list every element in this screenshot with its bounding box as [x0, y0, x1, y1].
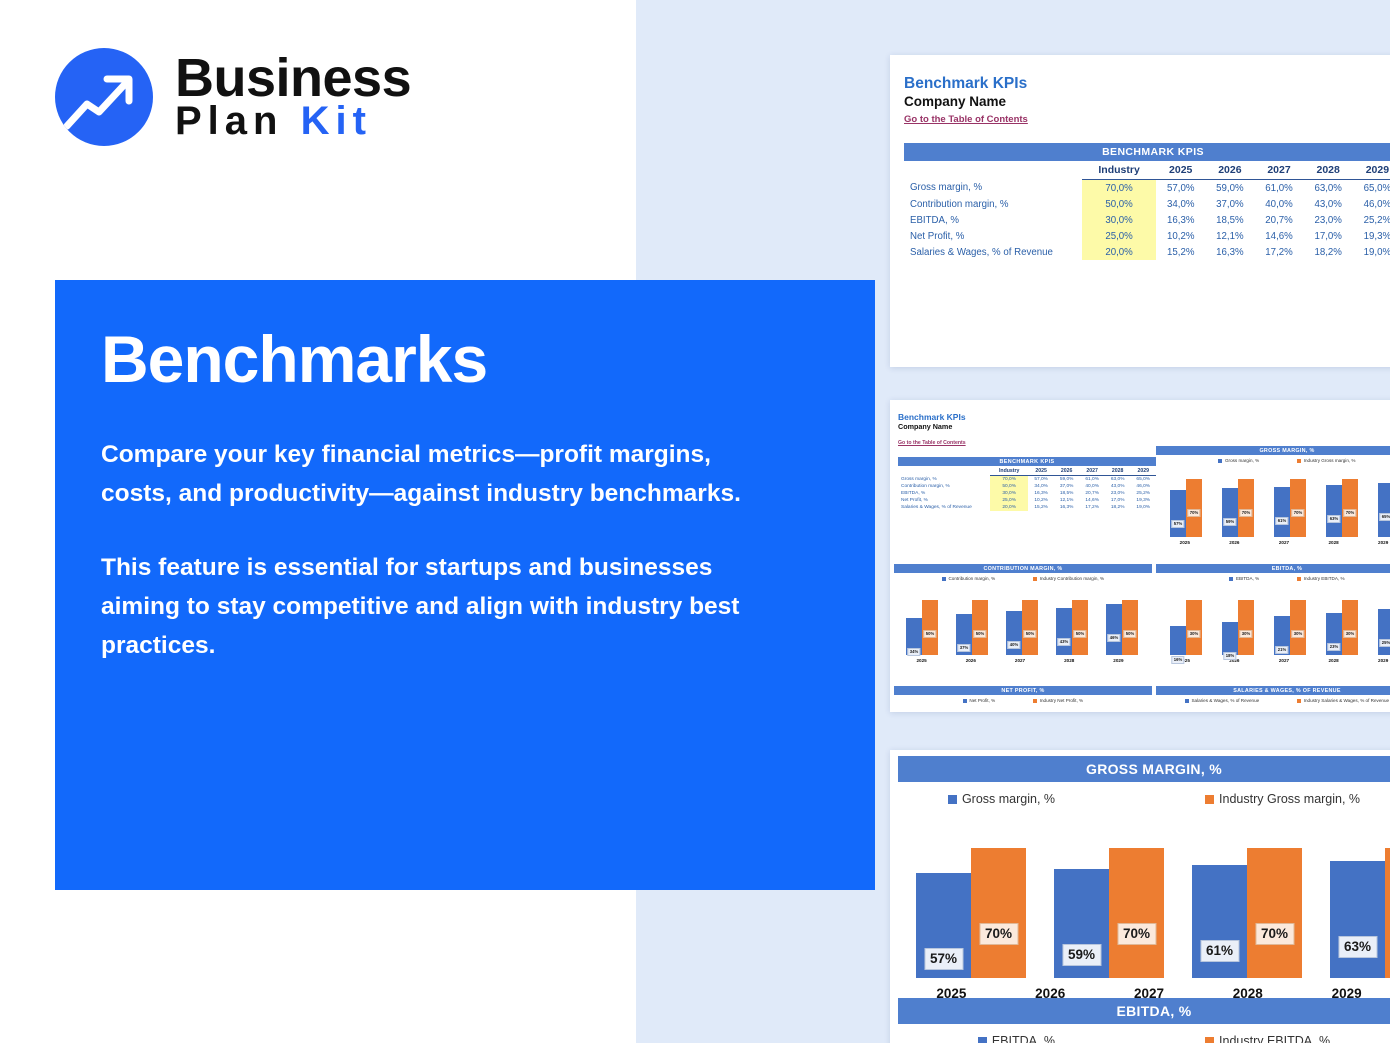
chart-bar-value-label: 61%	[1200, 940, 1239, 962]
kpi-row-label: Net Profit, %	[898, 497, 990, 504]
legend-label: Industry Salaries & Wages, % of Revenue	[1304, 698, 1389, 703]
kpi-year-value: 16,3%	[1054, 504, 1080, 511]
kpi-year-value: 63,0%	[1105, 476, 1131, 484]
kpi-year-value: 40,0%	[1254, 196, 1303, 212]
chart-x-tick-label: 2029	[1368, 658, 1390, 663]
table-row: EBITDA, %30,0%16,3%18,5%20,7%23,0%25,2%	[898, 490, 1156, 497]
legend-label: Industry EBITDA, %	[1219, 1034, 1330, 1043]
kpi-column-header: 2025	[1028, 466, 1054, 476]
legend-item[interactable]: Industry EBITDA, %	[1205, 1034, 1330, 1043]
chart-x-tick-label: 2029	[1103, 658, 1134, 663]
legend-item[interactable]: EBITDA, %	[1229, 576, 1259, 581]
kpi-year-value: 20,7%	[1079, 490, 1105, 497]
kpi-industry-value: 50,0%	[990, 483, 1028, 490]
legend-swatch-series-blue	[1218, 459, 1222, 463]
chart-x-tick-label: 2026	[955, 658, 986, 663]
kpi-banner-label: BENCHMARK KPIS	[898, 457, 1156, 466]
chart-bar-group: 37%50%	[956, 600, 988, 655]
legend-item[interactable]: Net Profit, %	[963, 698, 995, 703]
kpi-industry-value: 50,0%	[1082, 196, 1156, 212]
kpi-year-value: 63,0%	[1304, 180, 1353, 197]
kpi-column-header: 2026	[1205, 161, 1254, 180]
sheet-company-name: Company Name	[904, 94, 1390, 109]
table-row: Contribution margin, %50,0%34,0%37,0%40,…	[904, 196, 1390, 212]
chart-bar[interactable]: 61%	[1192, 865, 1247, 978]
kpi-year-value: 59,0%	[1054, 476, 1080, 484]
sheet-title: Benchmark KPIs	[898, 412, 1390, 422]
hero-paragraph-1: Compare your key financial metrics—profi…	[101, 436, 741, 513]
chart-x-tick-label: 2027	[1004, 658, 1035, 663]
kpi-year-value: 57,0%	[1028, 476, 1054, 484]
chart-legend: Gross margin, %Industry Gross margin, %	[898, 792, 1390, 806]
legend-swatch-series-blue	[942, 577, 946, 581]
chart-x-tick-label: 2027	[1269, 540, 1299, 545]
chart-bar[interactable]: 63%	[1326, 485, 1342, 537]
chart-plot-area: 16%30%18%30%21%30%23%30%25%30%	[1156, 589, 1390, 655]
chart-bar-group: 57%70%	[1170, 479, 1202, 537]
legend-label: Net Profit, %	[969, 698, 995, 703]
legend-label: Gross margin, %	[962, 792, 1055, 806]
chart-title: NET PROFIT, %	[894, 686, 1152, 695]
chart-bar-group: 23%30%	[1326, 600, 1358, 655]
chart-bar-value-label: 18%	[1223, 652, 1236, 660]
chart-bar[interactable]: 25%	[1378, 609, 1390, 655]
chart-title: EBITDA, %	[1156, 564, 1390, 573]
kpi-year-value: 14,6%	[1254, 228, 1303, 244]
kpi-year-value: 37,0%	[1054, 483, 1080, 490]
chart-gross-margin-large[interactable]: GROSS MARGIN, %Gross margin, %Industry G…	[898, 756, 1390, 1006]
chart-bar-value-label: 25%	[1379, 639, 1390, 647]
kpi-column-header: 2029	[1130, 466, 1156, 476]
kpi-table-body-mid: BENCHMARK KPISIndustry202520262027202820…	[898, 457, 1156, 511]
kpi-column-header: Industry	[1082, 161, 1156, 180]
chart-ebitda-large[interactable]: EBITDA, %EBITDA, %Industry EBITDA, %	[898, 998, 1390, 1043]
chart-bar[interactable]: 59%	[1054, 869, 1109, 978]
chart-bar-value-label: 30%	[1343, 630, 1356, 638]
chart-bar[interactable]: 50%	[1022, 600, 1038, 655]
kpi-banner-row: BENCHMARK KPIS	[904, 143, 1390, 161]
chart-title: CONTRIBUTION MARGIN, %	[894, 564, 1152, 573]
chart-legend: Contribution margin, %Industry Contribut…	[894, 576, 1152, 581]
legend-item[interactable]: Industry Net Profit, %	[1033, 698, 1083, 703]
chart-gross-margin-mini[interactable]: GROSS MARGIN, %Gross margin, %Industry G…	[1156, 446, 1390, 574]
chart-legend: Salaries & Wages, % of RevenueIndustry S…	[1156, 698, 1390, 703]
kpi-year-value: 12,1%	[1205, 228, 1254, 244]
kpi-year-value: 59,0%	[1205, 180, 1254, 197]
legend-label: Contribution margin, %	[948, 576, 995, 581]
chart-bar[interactable]: 70%	[1290, 479, 1306, 537]
kpi-column-header: 2027	[1254, 161, 1303, 180]
chart-x-axis: 20252026202720282029	[894, 658, 1152, 663]
legend-item[interactable]: Industry Salaries & Wages, % of Revenue	[1297, 698, 1389, 703]
legend-swatch-series-orange	[1205, 1037, 1214, 1043]
chart-legend: EBITDA, %Industry EBITDA, %	[1156, 576, 1390, 581]
kpi-table-body-top: BENCHMARK KPISIndustry202520262027202820…	[904, 143, 1390, 260]
sheet-title: Benchmark KPIs	[904, 75, 1390, 93]
chart-bar-value-label: 40%	[1007, 641, 1020, 649]
legend-swatch-series-blue	[978, 1037, 987, 1043]
chart-bar[interactable]: 70%	[1342, 479, 1358, 537]
legend-swatch-series-orange	[1205, 795, 1214, 804]
kpi-row-label: Contribution margin, %	[904, 196, 1082, 212]
chart-bar[interactable]: 50%	[922, 600, 938, 655]
chart-bar-group: 59%70%	[1054, 848, 1164, 978]
chart-bar-value-label: 70%	[1239, 509, 1252, 517]
chart-bar[interactable]: 30%	[1342, 600, 1358, 655]
legend-item[interactable]: Industry Gross margin, %	[1297, 458, 1355, 463]
kpi-banner-label: BENCHMARK KPIS	[904, 143, 1390, 161]
kpi-year-value: 10,2%	[1156, 228, 1205, 244]
kpi-year-value: 37,0%	[1205, 196, 1254, 212]
legend-item[interactable]: EBITDA, %	[978, 1034, 1055, 1043]
kpi-year-value: 19,3%	[1130, 497, 1156, 504]
chart-bar-group: 46%50%	[1106, 600, 1138, 655]
chart-ebitda-mini[interactable]: EBITDA, %EBITDA, %Industry EBITDA, %16%3…	[1156, 564, 1390, 692]
chart-title: SALARIES & WAGES, % OF REVENUE	[1156, 686, 1390, 695]
chart-x-tick-label: 2028	[1054, 658, 1085, 663]
chart-x-tick-label: 2029	[1368, 540, 1390, 545]
chart-plot-area: 34%50%37%50%40%50%43%50%46%50%	[894, 589, 1152, 655]
kpi-year-value: 43,0%	[1105, 483, 1131, 490]
table-row: Net Profit, %25,0%10,2%12,1%14,6%17,0%19…	[904, 228, 1390, 244]
brand-logo[interactable]: Business Plan Kit	[55, 48, 411, 146]
chart-bar[interactable]: 70%	[1238, 479, 1254, 537]
kpi-year-value: 61,0%	[1079, 476, 1105, 484]
legend-swatch-series-orange	[1297, 699, 1301, 703]
chart-x-axis: 20252026202720282029	[1156, 658, 1390, 663]
kpi-header-blank	[904, 161, 1082, 180]
table-row: Net Profit, %25,0%10,2%12,1%14,6%17,0%19…	[898, 497, 1156, 504]
legend-label: Industry EBITDA, %	[1304, 576, 1345, 581]
legend-swatch-series-blue	[948, 795, 957, 804]
chart-bar[interactable]: 43%	[1056, 608, 1072, 655]
chart-bar[interactable]: 40%	[1006, 611, 1022, 655]
chart-bar-group: 25%30%	[1378, 600, 1390, 655]
chart-x-tick-label: 2028	[1319, 658, 1349, 663]
chart-bar-value-label: 30%	[1239, 630, 1252, 638]
kpi-banner-row: BENCHMARK KPIS	[898, 457, 1156, 466]
legend-swatch-series-orange	[1033, 577, 1037, 581]
chart-bar-value-label: 70%	[1291, 509, 1304, 517]
kpi-year-value: 17,0%	[1304, 228, 1353, 244]
chart-bar[interactable]: 70%	[1385, 848, 1390, 978]
kpi-row-label: Gross margin, %	[904, 180, 1082, 197]
kpi-year-value: 18,2%	[1105, 504, 1131, 511]
kpi-column-header: 2029	[1353, 161, 1390, 180]
legend-swatch-series-blue	[963, 699, 967, 703]
legend-item[interactable]: Industry Gross margin, %	[1205, 792, 1360, 806]
chart-bar-group: 34%50%	[906, 600, 938, 655]
kpi-industry-value: 20,0%	[990, 504, 1028, 511]
table-of-contents-link[interactable]: Go to the Table of Contents	[898, 440, 966, 446]
table-row: EBITDA, %30,0%16,3%18,5%20,7%23,0%25,2%	[904, 212, 1390, 228]
kpi-year-value: 23,0%	[1304, 212, 1353, 228]
chart-bar-value-label: 16%	[1171, 656, 1184, 664]
hero-panel: Benchmarks Compare your key financial me…	[55, 280, 875, 890]
chart-bar-value-label: 50%	[923, 630, 936, 638]
chart-bar[interactable]: 23%	[1326, 613, 1342, 655]
kpi-industry-value: 30,0%	[990, 490, 1028, 497]
chart-x-tick-label: 2027	[1269, 658, 1299, 663]
kpi-row-label: EBITDA, %	[898, 490, 990, 497]
chart-bar-group: 59%70%	[1222, 479, 1254, 537]
chart-bar[interactable]: 50%	[1072, 600, 1088, 655]
legend-swatch-series-blue	[1229, 577, 1233, 581]
chart-bar-value-label: 50%	[973, 630, 986, 638]
benchmark-kpi-table: BENCHMARK KPISIndustry202520262027202820…	[904, 143, 1390, 260]
legend-label: EBITDA, %	[992, 1034, 1055, 1043]
chart-bar-value-label: 43%	[1057, 638, 1070, 646]
chart-bar[interactable]: 59%	[1222, 488, 1238, 537]
chart-bar[interactable]: 63%	[1330, 861, 1385, 978]
kpi-row-label: Contribution margin, %	[898, 483, 990, 490]
kpi-row-label: Net Profit, %	[904, 228, 1082, 244]
chart-bar-value-label: 46%	[1107, 634, 1120, 642]
kpi-column-header: Industry	[990, 466, 1028, 476]
chart-plot-area: 57%70%59%70%61%70%63%70%65%70%	[898, 830, 1390, 978]
chart-bar-value-label: 59%	[1223, 518, 1236, 526]
legend-label: Industry Gross margin, %	[1304, 458, 1356, 463]
kpi-year-value: 17,0%	[1105, 497, 1131, 504]
kpi-year-value: 10,2%	[1028, 497, 1054, 504]
kpi-year-value: 61,0%	[1254, 180, 1303, 197]
chart-title: EBITDA, %	[898, 998, 1390, 1024]
chart-bar-value-label: 70%	[1255, 923, 1294, 945]
kpi-year-value: 19,3%	[1353, 228, 1390, 244]
chart-bar-value-label: 70%	[1117, 923, 1156, 945]
chart-title: GROSS MARGIN, %	[898, 756, 1390, 782]
chart-x-axis: 20252026202720282029	[1156, 540, 1390, 545]
chart-bar-value-label: 50%	[1123, 630, 1136, 638]
page-title: Benchmarks	[101, 326, 823, 392]
chart-bar-value-label: 37%	[957, 644, 970, 652]
kpi-year-value: 19,0%	[1130, 504, 1156, 511]
chart-bar[interactable]: 70%	[971, 848, 1026, 978]
chart-legend: Net Profit, %Industry Net Profit, %	[894, 698, 1152, 703]
chart-bar-value-label: 21%	[1275, 646, 1288, 654]
kpi-column-header: 2028	[1304, 161, 1353, 180]
kpi-year-value: 17,2%	[1254, 244, 1303, 260]
chart-bar-value-label: 57%	[924, 948, 963, 970]
kpi-row-label: Gross margin, %	[898, 476, 990, 484]
legend-swatch-series-blue	[1185, 699, 1189, 703]
table-row: Gross margin, %70,0%57,0%59,0%61,0%63,0%…	[904, 180, 1390, 197]
kpi-header-row: Industry20252026202720282029	[904, 161, 1390, 180]
chart-salaries-wages-mini[interactable]: SALARIES & WAGES, % OF REVENUESalaries &…	[1156, 686, 1390, 712]
chart-bar-value-label: 57%	[1171, 520, 1184, 528]
legend-item[interactable]: Industry EBITDA, %	[1297, 576, 1344, 581]
chart-bar[interactable]: 61%	[1274, 487, 1290, 537]
kpi-year-value: 46,0%	[1130, 483, 1156, 490]
legend-item[interactable]: Industry Contribution margin, %	[1033, 576, 1104, 581]
chart-plot-area: 57%70%59%70%61%70%63%70%65%70%	[1156, 471, 1390, 537]
chart-bar-value-label: 70%	[1187, 509, 1200, 517]
table-row: Contribution margin, %50,0%34,0%37,0%40,…	[898, 483, 1156, 490]
kpi-year-value: 16,3%	[1205, 244, 1254, 260]
kpi-row-label: EBITDA, %	[904, 212, 1082, 228]
spreadsheet-preview-top[interactable]: Benchmark KPIs Company Name Go to the Ta…	[890, 55, 1390, 367]
kpi-year-value: 16,3%	[1028, 490, 1054, 497]
table-of-contents-link[interactable]: Go to the Table of Contents	[904, 114, 1028, 125]
chart-bar[interactable]: 50%	[972, 600, 988, 655]
chart-bar[interactable]: 57%	[916, 873, 971, 978]
brand-name-line1: Business	[175, 54, 411, 104]
kpi-year-value: 18,5%	[1205, 212, 1254, 228]
chart-bar[interactable]: 37%	[956, 614, 972, 655]
chart-bar[interactable]: 16%	[1170, 626, 1186, 655]
chart-bar[interactable]: 70%	[1109, 848, 1164, 978]
chart-bar[interactable]: 46%	[1106, 604, 1122, 655]
legend-item[interactable]: Contribution margin, %	[942, 576, 995, 581]
kpi-industry-value: 20,0%	[1082, 244, 1156, 260]
chart-bar-group: 57%70%	[916, 848, 1026, 978]
kpi-year-value: 18,2%	[1304, 244, 1353, 260]
kpi-industry-value: 25,0%	[1082, 228, 1156, 244]
kpi-industry-value: 70,0%	[990, 476, 1028, 484]
hero-paragraph-2: This feature is essential for startups a…	[101, 549, 741, 665]
chart-bar[interactable]: 50%	[1122, 600, 1138, 655]
kpi-year-value: 20,7%	[1254, 212, 1303, 228]
kpi-year-value: 46,0%	[1353, 196, 1390, 212]
chart-bar[interactable]: 70%	[1247, 848, 1302, 978]
kpi-year-value: 15,2%	[1156, 244, 1205, 260]
chart-bar-value-label: 50%	[1073, 630, 1086, 638]
brand-name-plan: Plan	[175, 99, 283, 143]
chart-legend: EBITDA, %Industry EBITDA, %	[898, 1034, 1390, 1043]
kpi-header-row: Industry20252026202720282029	[898, 466, 1156, 476]
trend-arrow-up-icon	[55, 48, 153, 146]
kpi-row-label: Salaries & Wages, % of Revenue	[898, 504, 990, 511]
table-row: Gross margin, %70,0%57,0%59,0%61,0%63,0%…	[898, 476, 1156, 484]
kpi-year-value: 65,0%	[1130, 476, 1156, 484]
chart-bar[interactable]: 30%	[1186, 600, 1202, 655]
chart-bar[interactable]: 18%	[1222, 622, 1238, 655]
kpi-column-header: 2025	[1156, 161, 1205, 180]
legend-item[interactable]: Gross margin, %	[1218, 458, 1259, 463]
kpi-year-value: 17,2%	[1079, 504, 1105, 511]
sheet-company-name: Company Name	[898, 422, 1390, 431]
chart-bar[interactable]: 70%	[1186, 479, 1202, 537]
chart-legend: Gross margin, %Industry Gross margin, %	[1156, 458, 1390, 463]
chart-bar-value-label: 34%	[907, 648, 920, 656]
legend-label: Salaries & Wages, % of Revenue	[1191, 698, 1259, 703]
kpi-year-value: 40,0%	[1079, 483, 1105, 490]
chart-bar[interactable]: 30%	[1238, 600, 1254, 655]
chart-bar-group: 63%70%	[1326, 479, 1358, 537]
chart-bar-group: 63%70%	[1330, 848, 1390, 978]
chart-x-tick-label: 2028	[1319, 540, 1349, 545]
benchmark-kpi-table: BENCHMARK KPISIndustry202520262027202820…	[898, 457, 1156, 511]
table-row: Salaries & Wages, % of Revenue20,0%15,2%…	[898, 504, 1156, 511]
chart-bar-value-label: 50%	[1023, 630, 1036, 638]
kpi-year-value: 65,0%	[1353, 180, 1390, 197]
kpi-year-value: 16,3%	[1156, 212, 1205, 228]
kpi-header-blank	[898, 466, 990, 476]
spreadsheet-preview-bottom[interactable]: GROSS MARGIN, %Gross margin, %Industry G…	[890, 750, 1390, 1043]
chart-bar-value-label: 30%	[1187, 630, 1200, 638]
legend-label: Industry Gross margin, %	[1219, 792, 1360, 806]
chart-x-tick-label: 2026	[1220, 540, 1250, 545]
legend-swatch-series-orange	[1297, 459, 1301, 463]
chart-bar-group: 21%30%	[1274, 600, 1306, 655]
kpi-year-value: 15,2%	[1028, 504, 1054, 511]
kpi-column-header: 2026	[1054, 466, 1080, 476]
chart-bar-value-label: 30%	[1291, 630, 1304, 638]
kpi-year-value: 34,0%	[1028, 483, 1054, 490]
legend-label: Industry Contribution margin, %	[1040, 576, 1104, 581]
kpi-industry-value: 70,0%	[1082, 180, 1156, 197]
chart-bar-value-label: 23%	[1327, 643, 1340, 651]
chart-title: GROSS MARGIN, %	[1156, 446, 1390, 455]
kpi-column-header: 2027	[1079, 466, 1105, 476]
chart-x-tick-label: 2025	[1170, 540, 1200, 545]
kpi-year-value: 19,0%	[1353, 244, 1390, 260]
chart-bar-value-label: 70%	[1343, 509, 1356, 517]
chart-x-tick-label: 2025	[906, 658, 937, 663]
kpi-industry-value: 30,0%	[1082, 212, 1156, 228]
spreadsheet-preview-middle[interactable]: Benchmark KPIs Company Name Go to the Ta…	[890, 400, 1390, 712]
kpi-year-value: 14,6%	[1079, 497, 1105, 504]
kpi-year-value: 57,0%	[1156, 180, 1205, 197]
chart-bar[interactable]: 34%	[906, 618, 922, 655]
chart-bar-value-label: 63%	[1338, 936, 1377, 958]
legend-item[interactable]: Gross margin, %	[948, 792, 1055, 806]
kpi-column-header: 2028	[1105, 466, 1131, 476]
chart-bar-value-label: 65%	[1379, 513, 1390, 521]
brand-name-kit: Kit	[301, 99, 372, 143]
kpi-year-value: 25,2%	[1130, 490, 1156, 497]
kpi-row-label: Salaries & Wages, % of Revenue	[904, 244, 1082, 260]
chart-bar-group: 65%70%	[1378, 479, 1390, 537]
chart-contribution-margin-mini[interactable]: CONTRIBUTION MARGIN, %Contribution margi…	[894, 564, 1152, 692]
chart-bar-group: 18%30%	[1222, 600, 1254, 655]
table-row: Salaries & Wages, % of Revenue20,0%15,2%…	[904, 244, 1390, 260]
chart-bar[interactable]: 57%	[1170, 490, 1186, 537]
chart-bar[interactable]: 30%	[1290, 600, 1306, 655]
kpi-year-value: 23,0%	[1105, 490, 1131, 497]
chart-bar-group: 61%70%	[1274, 479, 1306, 537]
chart-bar-group: 61%70%	[1192, 848, 1302, 978]
chart-net-profit-mini[interactable]: NET PROFIT, %Net Profit, %Industry Net P…	[894, 686, 1152, 712]
chart-bar-value-label: 59%	[1062, 944, 1101, 966]
chart-bar-value-label: 61%	[1275, 517, 1288, 525]
legend-swatch-series-orange	[1297, 577, 1301, 581]
chart-bar-value-label: 70%	[979, 923, 1018, 945]
legend-label: Gross margin, %	[1225, 458, 1259, 463]
chart-bar[interactable]: 65%	[1378, 483, 1390, 537]
kpi-year-value: 43,0%	[1304, 196, 1353, 212]
legend-label: Industry Net Profit, %	[1040, 698, 1083, 703]
chart-bar-group: 43%50%	[1056, 600, 1088, 655]
kpi-year-value: 25,2%	[1353, 212, 1390, 228]
chart-bar-value-label: 63%	[1327, 515, 1340, 523]
chart-bar-group: 16%30%	[1170, 600, 1202, 655]
slide-root: Business Plan Kit Benchmarks Compare you…	[0, 0, 1390, 1043]
legend-item[interactable]: Salaries & Wages, % of Revenue	[1185, 698, 1259, 703]
legend-swatch-series-orange	[1033, 699, 1037, 703]
chart-bar[interactable]: 21%	[1274, 616, 1290, 655]
kpi-year-value: 18,5%	[1054, 490, 1080, 497]
kpi-industry-value: 25,0%	[990, 497, 1028, 504]
kpi-year-value: 34,0%	[1156, 196, 1205, 212]
kpi-year-value: 12,1%	[1054, 497, 1080, 504]
chart-bar-group: 40%50%	[1006, 600, 1038, 655]
legend-label: EBITDA, %	[1236, 576, 1259, 581]
